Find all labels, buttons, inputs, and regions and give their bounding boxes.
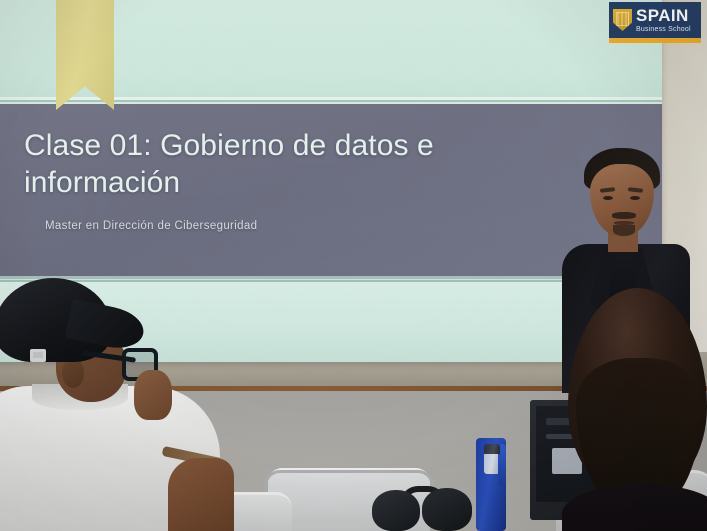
over-ear-headphones — [372, 486, 476, 531]
student-arm — [168, 458, 234, 531]
headphones-earcup-right — [422, 488, 472, 531]
spain-business-school-logo: SPAIN Business School — [609, 2, 701, 38]
headphones-earcup-left — [372, 490, 420, 531]
logo-name: SPAIN — [636, 7, 691, 24]
slide-title: Clase 01: Gobierno de datos e informació… — [24, 128, 494, 201]
presenter-eye-left — [603, 196, 613, 200]
presenter-moustache — [612, 212, 636, 219]
slide-subtitle: Master en Dirección de Ciberseguridad — [45, 220, 375, 232]
student-with-cap — [0, 276, 236, 531]
classroom-photo: Clase 01: Gobierno de datos e informació… — [0, 0, 707, 531]
logo-tagline: Business School — [636, 26, 691, 33]
cap-label-tag-inner — [33, 352, 43, 358]
shield-crest-icon — [613, 9, 632, 31]
student-hand — [134, 370, 172, 420]
logo-text-group: SPAIN Business School — [636, 7, 691, 33]
water-bottle-cap — [484, 444, 500, 454]
presenter-beard — [613, 225, 635, 236]
student-dark-hair — [568, 288, 707, 531]
logo-accent-bar — [609, 38, 701, 43]
student-ear — [62, 358, 84, 388]
student-shoulders — [562, 484, 707, 531]
presenter-eye-right — [630, 196, 640, 200]
